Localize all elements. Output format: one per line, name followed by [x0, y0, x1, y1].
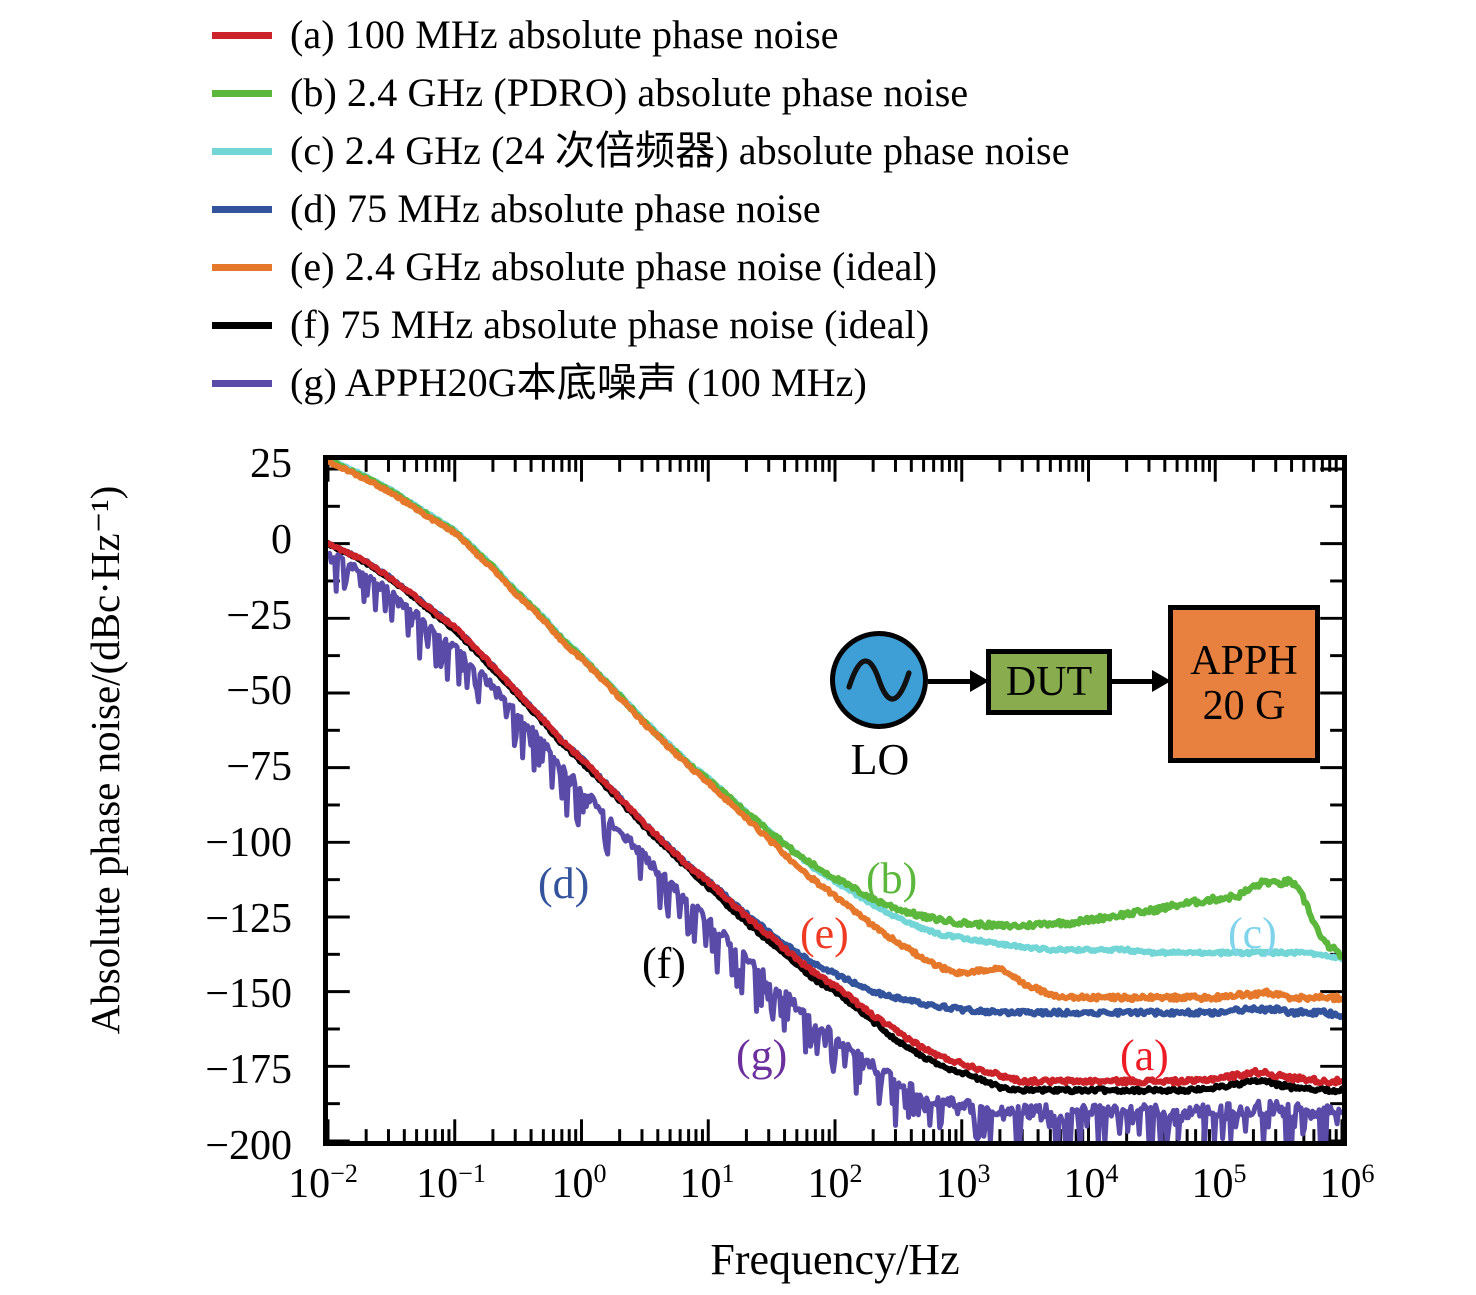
x-tick-exponent: −2: [330, 1159, 358, 1188]
x-tick-1e5: 105: [1192, 1159, 1247, 1208]
legend-swatch-a: [212, 32, 272, 39]
y-tick--100: −100: [92, 819, 292, 867]
y-tick--75: −75: [92, 743, 292, 791]
lo-source-icon: [830, 631, 928, 729]
legend-swatch-g: [212, 380, 272, 387]
x-tick-base: 10: [288, 1161, 330, 1207]
x-tick-1e1: 101: [680, 1159, 735, 1208]
dut-label: DUT: [1006, 658, 1092, 706]
phase-noise-figure: Absolute phase noise/(dBc·Hz⁻¹) 250−25−5…: [0, 436, 1476, 1295]
y-tick--25: −25: [92, 592, 292, 640]
lo-to-dut-arrow-line: [928, 679, 974, 684]
apph-analyzer-block: APPH 20 G: [1168, 605, 1320, 763]
y-tick--125: −125: [92, 895, 292, 943]
y-tick--150: −150: [92, 970, 292, 1018]
legend-label-g: (g) APPH20G本底噪声 (100 MHz): [290, 363, 867, 403]
y-tick--200: −200: [92, 1122, 292, 1170]
curve-tag-b: (b): [866, 853, 917, 904]
x-tick-base: 10: [1320, 1161, 1362, 1207]
x-tick-exponent: 5: [1234, 1159, 1247, 1188]
x-tick-exponent: 0: [594, 1159, 607, 1188]
legend-item-c: (c) 2.4 GHz (24 次倍频器) absolute phase noi…: [212, 122, 1462, 180]
curve-tag-d: (d): [538, 858, 589, 909]
legend-swatch-b: [212, 90, 272, 97]
x-tick-exponent: 4: [1106, 1159, 1119, 1188]
legend-swatch-e: [212, 264, 272, 271]
x-tick-1e3: 103: [936, 1159, 991, 1208]
x-tick-1e−1: 10−1: [416, 1159, 486, 1208]
y-tick-0: 0: [92, 516, 292, 564]
x-tick-1e6: 106: [1320, 1159, 1375, 1208]
curve-tag-a: (a): [1120, 1030, 1169, 1081]
legend-item-d: (d) 75 MHz absolute phase noise: [212, 180, 1462, 238]
x-tick-base: 10: [552, 1161, 594, 1207]
x-tick-1e2: 102: [808, 1159, 863, 1208]
y-tick--50: −50: [92, 667, 292, 715]
curve-tag-g: (g): [736, 1030, 787, 1081]
x-tick-1e4: 104: [1064, 1159, 1119, 1208]
dut-block: DUT: [986, 649, 1112, 715]
legend-label-a: (a) 100 MHz absolute phase noise: [290, 15, 839, 55]
legend-item-a: (a) 100 MHz absolute phase noise: [212, 6, 1462, 64]
x-tick-exponent: −1: [458, 1159, 486, 1188]
legend: (a) 100 MHz absolute phase noise(b) 2.4 …: [212, 6, 1462, 412]
apph-label-line2: 20 G: [1203, 684, 1286, 729]
x-tick-base: 10: [936, 1161, 978, 1207]
x-axis-ticks: 10−210−1100101102103104105106: [323, 1159, 1347, 1219]
x-tick-base: 10: [1064, 1161, 1106, 1207]
legend-item-e: (e) 2.4 GHz absolute phase noise (ideal): [212, 238, 1462, 296]
y-tick-25: 25: [92, 440, 292, 488]
apph-label-line1: APPH: [1190, 639, 1297, 684]
legend-label-f: (f) 75 MHz absolute phase noise (ideal): [290, 305, 929, 345]
y-axis-ticks: 250−25−50−75−100−125−150−175−200: [92, 436, 292, 1295]
x-tick-base: 10: [1192, 1161, 1234, 1207]
legend-item-f: (f) 75 MHz absolute phase noise (ideal): [212, 296, 1462, 354]
x-tick-exponent: 3: [978, 1159, 991, 1188]
legend-label-c: (c) 2.4 GHz (24 次倍频器) absolute phase noi…: [290, 131, 1070, 171]
x-tick-base: 10: [680, 1161, 722, 1207]
legend-label-b: (b) 2.4 GHz (PDRO) absolute phase noise: [290, 73, 968, 113]
lo-label: LO: [820, 734, 940, 785]
legend-swatch-c: [212, 148, 272, 155]
x-tick-base: 10: [416, 1161, 458, 1207]
dut-to-apph-arrow-line: [1112, 679, 1156, 684]
legend-swatch-d: [212, 206, 272, 213]
x-tick-exponent: 1: [722, 1159, 735, 1188]
curve-tag-f: (f): [642, 938, 686, 989]
curve-tag-c: (c): [1228, 908, 1277, 959]
x-axis-label: Frequency/Hz: [323, 1234, 1347, 1285]
y-tick--175: −175: [92, 1046, 292, 1094]
legend-label-e: (e) 2.4 GHz absolute phase noise (ideal): [290, 247, 937, 287]
x-tick-exponent: 6: [1362, 1159, 1375, 1188]
x-tick-base: 10: [808, 1161, 850, 1207]
measurement-setup-inset: LO DUT APPH 20 G: [820, 601, 1320, 801]
x-tick-1e0: 100: [552, 1159, 607, 1208]
legend-item-b: (b) 2.4 GHz (PDRO) absolute phase noise: [212, 64, 1462, 122]
x-tick-1e−2: 10−2: [288, 1159, 358, 1208]
legend-swatch-f: [212, 322, 272, 329]
legend-label-d: (d) 75 MHz absolute phase noise: [290, 189, 821, 229]
x-tick-exponent: 2: [850, 1159, 863, 1188]
legend-item-g: (g) APPH20G本底噪声 (100 MHz): [212, 354, 1462, 412]
curve-tag-e: (e): [800, 908, 849, 959]
